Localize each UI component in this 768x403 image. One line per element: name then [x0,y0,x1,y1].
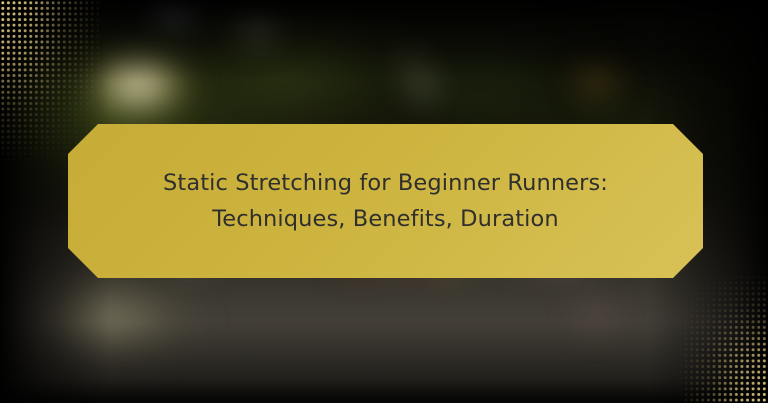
page-title-line-2: Techniques, Benefits, Duration [163,201,608,237]
page-title: Static Stretching for Beginner Runners: … [163,165,608,238]
halftone-dots-bottom-right-icon [672,263,768,403]
page-title-line-1: Static Stretching for Beginner Runners: [163,165,608,201]
title-card: Static Stretching for Beginner Runners: … [68,124,703,278]
featured-image-canvas: Static Stretching for Beginner Runners: … [0,0,768,403]
